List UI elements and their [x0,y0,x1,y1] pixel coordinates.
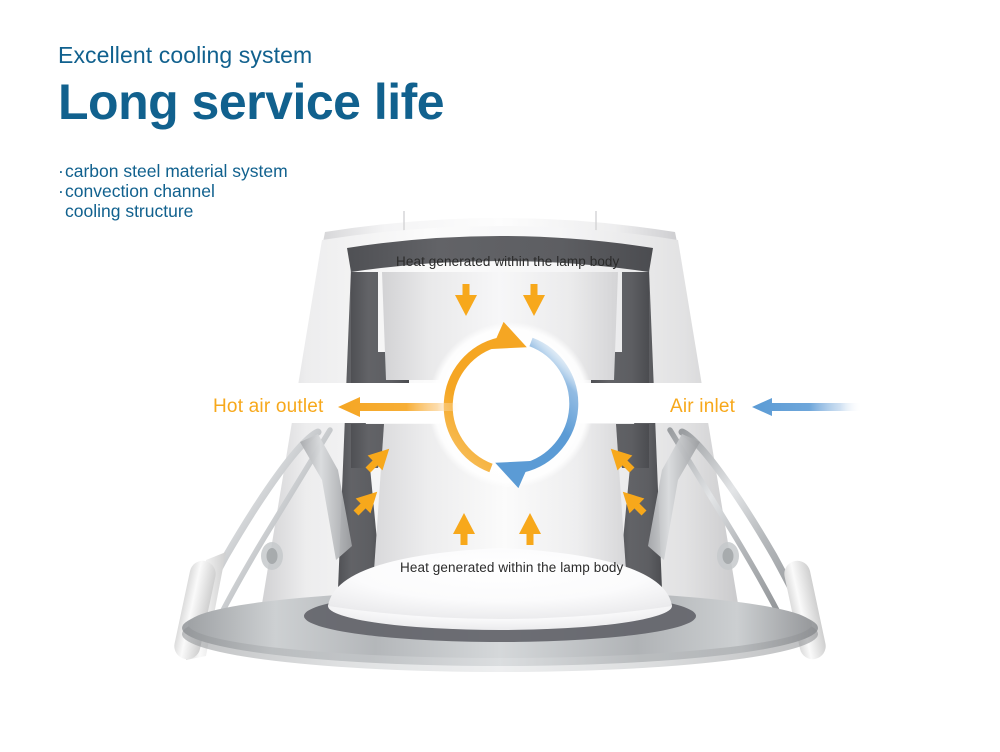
hot-air-outlet-label: Hot air outlet [213,396,324,418]
feature-item: ·carbon steel material system [58,161,288,181]
infographic-canvas: Hot air outlet Air inlet Heat generated … [0,0,1000,752]
header-block: Excellent cooling system Long service li… [58,42,444,130]
feature-label: carbon steel material system [65,161,288,181]
heat-label-top: Heat generated within the lamp body [396,254,619,269]
feature-item: ·cooling structure [58,201,288,221]
eyebrow-text: Excellent cooling system [58,42,444,68]
air-inlet-label: Air inlet [670,396,735,418]
air-inlet-arrow [752,396,862,418]
feature-label: convection channel [65,181,215,201]
feature-list: ·carbon steel material system ·convectio… [58,161,288,221]
hot-air-outlet-arrow [338,396,462,418]
feature-label: cooling structure [65,201,193,221]
feature-item: ·convection channel [58,181,288,201]
bullet-icon: · [58,181,65,201]
bullet-icon: · [58,161,65,181]
page-title: Long service life [58,74,444,130]
heat-label-bottom: Heat generated within the lamp body [400,560,623,575]
